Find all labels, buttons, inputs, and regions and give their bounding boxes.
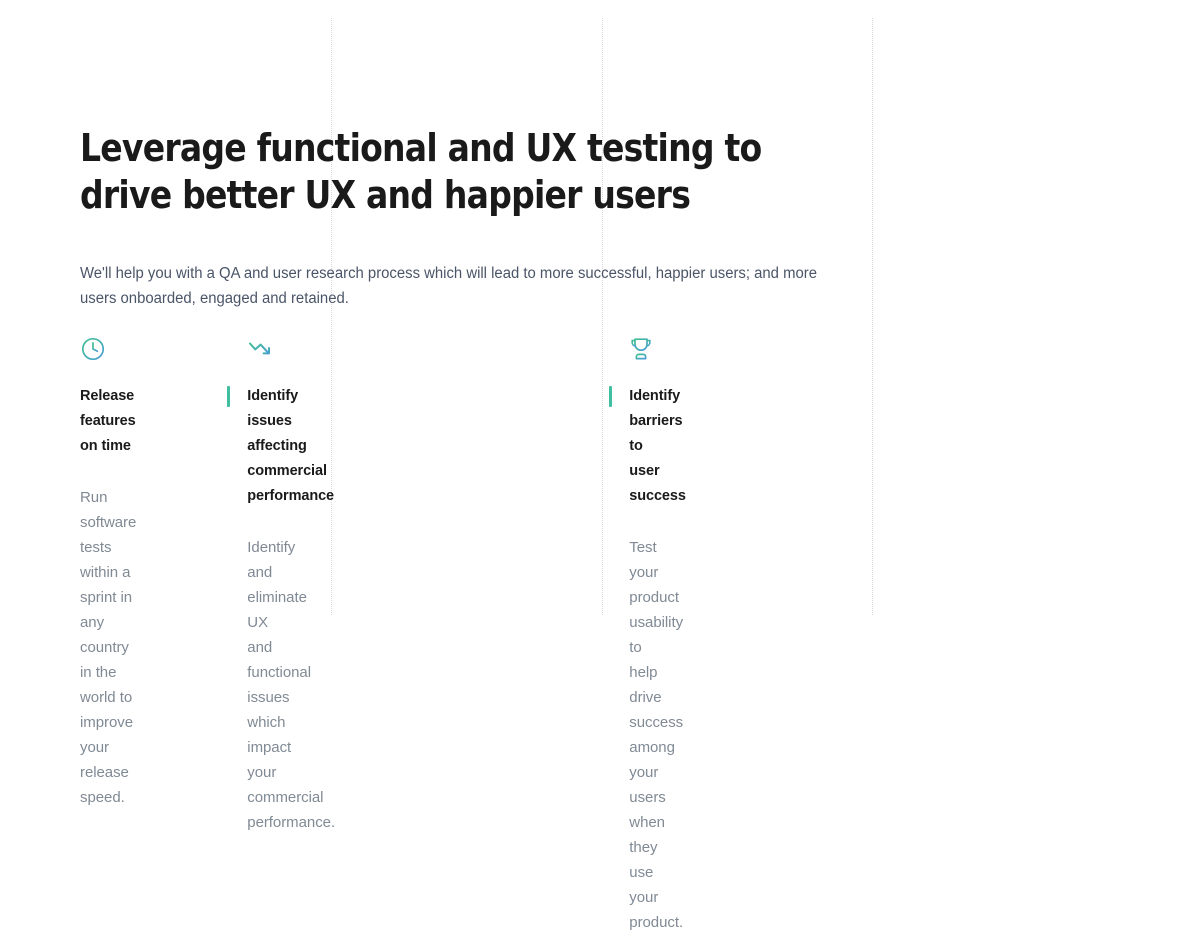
feature-columns: Release features on time Run software te…	[0, 336, 1200, 935]
feature-card-grow-user-base: Grow your user base worldwide Drive inte…	[389, 336, 1200, 935]
page-root: Leverage functional and UX testing to dr…	[0, 0, 1200, 630]
page-subtitle: We'll help you with a QA and user resear…	[80, 261, 848, 311]
page-title: Leverage functional and UX testing to dr…	[80, 125, 767, 219]
